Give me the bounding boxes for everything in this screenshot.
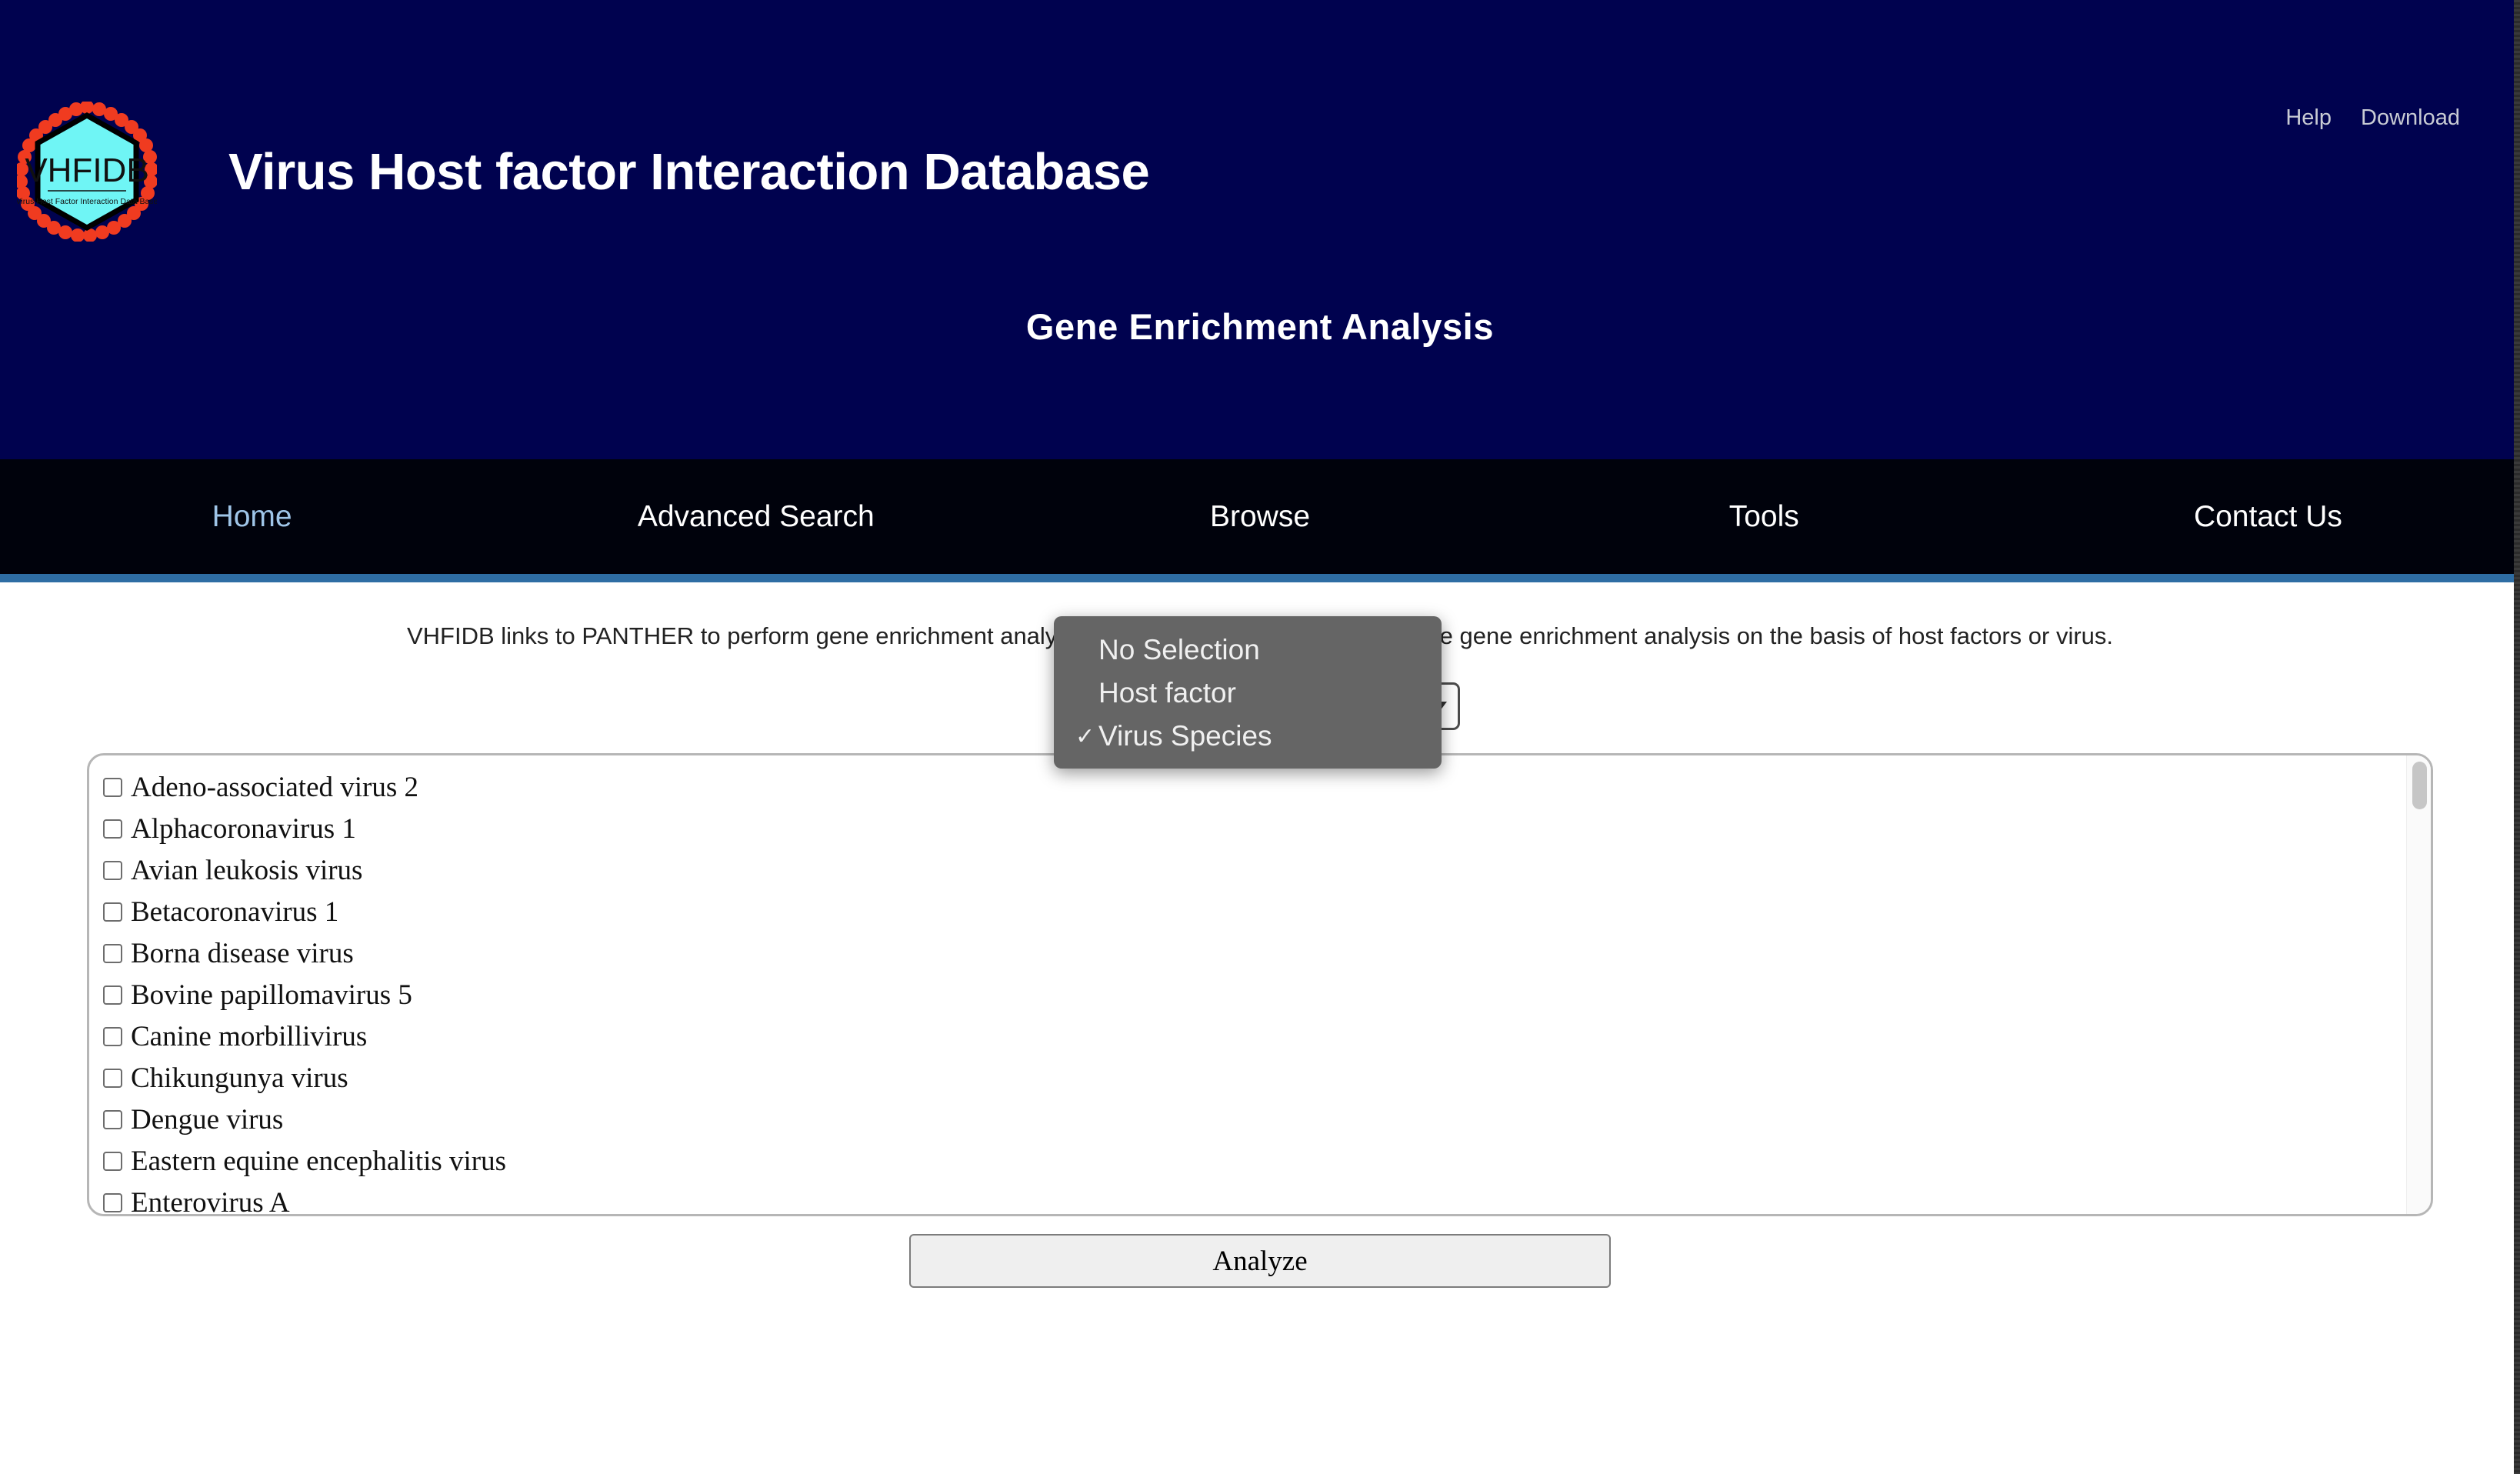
svg-text:VHFIDB: VHFIDB	[25, 152, 148, 189]
list-item[interactable]: Canine morbillivirus	[103, 1015, 2431, 1057]
utility-nav: Help Download	[2285, 105, 2460, 131]
checkbox-icon[interactable]	[103, 861, 122, 880]
analyze-button-wrap: Analyze	[0, 1234, 2520, 1288]
list-item[interactable]: Eastern equine encephalitis virus	[103, 1140, 2431, 1182]
list-item-label[interactable]: Bovine papillomavirus 5	[131, 979, 412, 1012]
list-item[interactable]: Chikungunya virus	[103, 1057, 2431, 1099]
list-item[interactable]: Enterovirus A	[103, 1182, 2431, 1216]
nav-item-tools[interactable]: Tools	[1512, 500, 2016, 534]
list-item-label[interactable]: Eastern equine encephalitis virus	[131, 1145, 506, 1178]
dropdown-option-virus-species[interactable]: ✓ Virus Species	[1054, 715, 1442, 758]
checkbox-icon[interactable]	[103, 902, 122, 922]
vhfidb-logo-icon[interactable]: VHFIDB Virus Host Factor Interaction Dat…	[17, 102, 157, 242]
list-item-label[interactable]: Adeno-associated virus 2	[131, 771, 418, 804]
checkbox-icon[interactable]	[103, 1027, 122, 1046]
checkbox-icon[interactable]	[103, 1110, 122, 1129]
dropdown-option-label: Host factor	[1098, 677, 1236, 709]
check-icon: ✓	[1075, 723, 1098, 750]
listbox-scrollbar[interactable]	[2406, 755, 2431, 1214]
help-link[interactable]: Help	[2285, 105, 2332, 131]
nav-item-advanced-search[interactable]: Advanced Search	[504, 500, 1008, 534]
list-item-label[interactable]: Canine morbillivirus	[131, 1020, 367, 1053]
main-navigation: Home Advanced Search Browse Tools Contac…	[0, 459, 2520, 582]
list-item[interactable]: Dengue virus	[103, 1099, 2431, 1140]
page-title: Gene Enrichment Analysis	[0, 305, 2520, 348]
list-item-label[interactable]: Borna disease virus	[131, 937, 354, 970]
brand-row: VHFIDB Virus Host Factor Interaction Dat…	[17, 102, 1149, 242]
list-item-label[interactable]: Chikungunya virus	[131, 1062, 348, 1095]
dropdown-option-host-factor[interactable]: Host factor	[1054, 672, 1442, 715]
list-item[interactable]: Alphacoronavirus 1	[103, 808, 2431, 849]
listbox-scrollbar-thumb[interactable]	[2412, 762, 2427, 809]
checkbox-icon[interactable]	[103, 778, 122, 797]
page-root: Help Download	[0, 0, 2520, 1474]
list-item-label[interactable]: Enterovirus A	[131, 1186, 290, 1217]
analysis-type-dropdown-menu: No Selection Host factor ✓ Virus Species	[1054, 616, 1442, 769]
list-item[interactable]: Betacoronavirus 1	[103, 891, 2431, 932]
list-item[interactable]: Borna disease virus	[103, 932, 2431, 974]
svg-text:Virus Host Factor Interaction: Virus Host Factor Interaction Data Base	[17, 197, 157, 206]
list-item[interactable]: Bovine papillomavirus 5	[103, 974, 2431, 1015]
list-item-label[interactable]: Dengue virus	[131, 1103, 283, 1136]
analysis-type-select-wrap: No Selection Host factor ✓ Virus Species	[1060, 682, 1460, 730]
main-content: VHFIDB links to PANTHER to perform gene …	[0, 582, 2520, 1288]
checkbox-icon[interactable]	[103, 819, 122, 839]
nav-item-contact-us[interactable]: Contact Us	[2016, 500, 2520, 534]
list-item[interactable]: Avian leukosis virus	[103, 849, 2431, 891]
list-item-label[interactable]: Betacoronavirus 1	[131, 895, 338, 929]
checkbox-icon[interactable]	[103, 985, 122, 1005]
nav-item-browse[interactable]: Browse	[1008, 500, 1512, 534]
checkbox-icon[interactable]	[103, 1069, 122, 1088]
checkbox-icon[interactable]	[103, 1193, 122, 1212]
browser-window-edge	[2514, 0, 2520, 1474]
checkbox-icon[interactable]	[103, 1152, 122, 1171]
virus-species-listbox[interactable]: Adeno-associated virus 2 Alphacoronaviru…	[87, 753, 2433, 1216]
site-title: Virus Host factor Interaction Database	[228, 142, 1149, 202]
site-header: Help Download	[0, 0, 2520, 459]
checkbox-icon[interactable]	[103, 944, 122, 963]
dropdown-option-no-selection[interactable]: No Selection	[1054, 629, 1442, 672]
list-item[interactable]: Adeno-associated virus 2	[103, 766, 2431, 808]
nav-item-home[interactable]: Home	[0, 500, 504, 534]
list-item-label[interactable]: Avian leukosis virus	[131, 854, 362, 887]
list-item-label[interactable]: Alphacoronavirus 1	[131, 812, 356, 845]
analyze-button[interactable]: Analyze	[909, 1234, 1611, 1288]
dropdown-option-label: Virus Species	[1098, 720, 1272, 752]
dropdown-option-label: No Selection	[1098, 634, 1260, 666]
download-link[interactable]: Download	[2361, 105, 2460, 131]
